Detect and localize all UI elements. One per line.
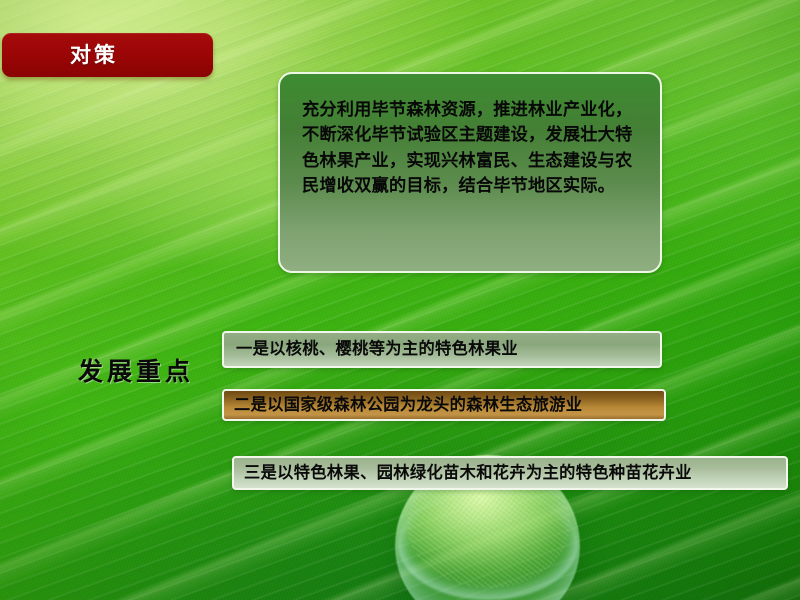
section-title-badge: 对策 <box>2 33 213 77</box>
focus-item-3-text: 三是以特色林果、园林绿化苗木和花卉为主的特色种苗花卉业 <box>244 465 692 481</box>
water-droplet-rim-highlight <box>398 488 578 600</box>
main-statement-panel: 充分利用毕节森林资源，推进林业产业化，不断深化毕节试验区主题建设，发展壮大特色林… <box>278 72 662 273</box>
focus-section-label: 发展重点 <box>78 352 194 388</box>
focus-item-2-text: 二是以国家级森林公园为龙头的森林生态旅游业 <box>234 397 582 413</box>
focus-item-2: 二是以国家级森林公园为龙头的森林生态旅游业 <box>222 389 666 421</box>
focus-item-1: 一是以核桃、樱桃等为主的特色林果业 <box>222 331 662 368</box>
main-statement-text: 充分利用毕节森林资源，推进林业产业化，不断深化毕节试验区主题建设，发展壮大特色林… <box>302 98 638 199</box>
slide-canvas: 对策 充分利用毕节森林资源，推进林业产业化，不断深化毕节试验区主题建设，发展壮大… <box>0 0 800 600</box>
focus-item-3: 三是以特色林果、园林绿化苗木和花卉为主的特色种苗花卉业 <box>232 456 788 490</box>
section-title-text: 对策 <box>70 45 118 66</box>
focus-item-1-text: 一是以核桃、樱桃等为主的特色林果业 <box>236 341 518 357</box>
